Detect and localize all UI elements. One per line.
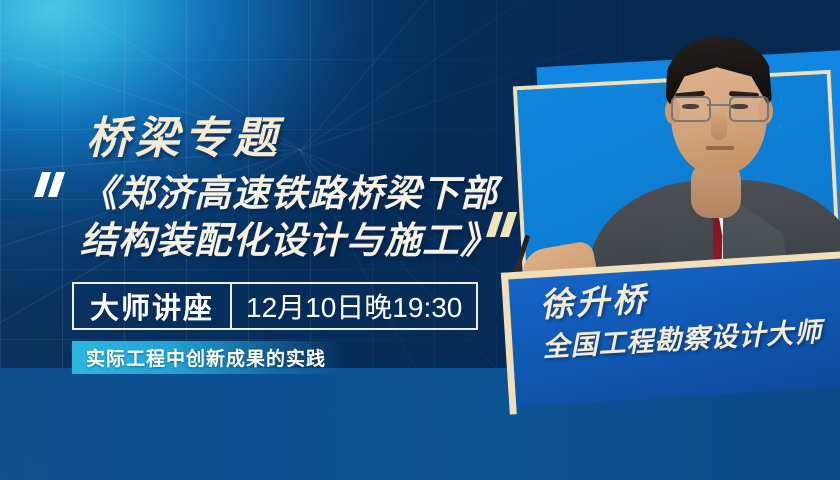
subtitle-text: 实际工程中创新成果的实践 [72, 344, 326, 371]
lecture-badge-label: 大师讲座 [74, 284, 230, 328]
left-text-block: 桥梁专题 《郑济高速铁路桥梁下部 结构装配化设计与施工》 大师讲座 12月10日… [0, 0, 520, 480]
speaker-name-text: 徐升桥 全国工程勘察设计大师 [539, 273, 823, 364]
speaker-mouth [706, 146, 734, 150]
speaker-nose [711, 110, 727, 140]
lecture-title: 《郑济高速铁路桥梁下部 结构装配化设计与施工》 [80, 170, 510, 265]
glasses-lens-left [671, 96, 711, 122]
lecture-info-box: 大师讲座 12月10日晚19:30 [72, 282, 478, 330]
glasses-bridge [707, 104, 729, 106]
lecture-title-line-2: 结构装配化设计与施工》 [80, 217, 510, 264]
lecture-datetime: 12月10日晚19:30 [232, 284, 476, 328]
topic-title: 桥梁专题 [86, 102, 282, 166]
speaker-name-panel: 徐升桥 全国工程勘察设计大师 [508, 257, 840, 407]
lecture-poster: 徐升桥 全国工程勘察设计大师 桥梁专题 《郑济高速铁路桥梁下部 结构装配化设计与… [0, 0, 840, 480]
glasses-lens-right [729, 96, 769, 122]
quote-open-icon [38, 172, 72, 198]
subtitle-strip: 实际工程中创新成果的实践 [72, 341, 344, 374]
portrait-zone [500, 0, 840, 480]
lecture-title-line-1: 《郑济高速铁路桥梁下部 [80, 170, 510, 217]
quote-close-icon [490, 212, 524, 238]
